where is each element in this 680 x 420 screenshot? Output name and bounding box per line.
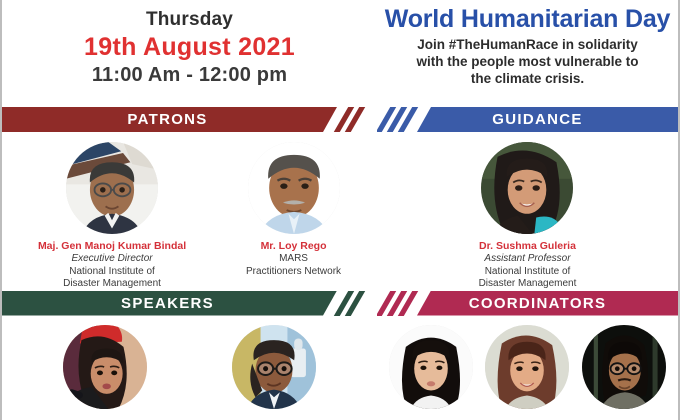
person-card: [63, 316, 147, 409]
event-tagline-line-2: with the people most vulnerable to: [416, 53, 638, 70]
banner-patrons-label: PATRONS: [127, 111, 207, 128]
patrons-group: Maj. Gen Manoj Kumar Bindal Executive Di…: [2, 132, 377, 291]
poster-header: Thursday 19th August 2021 11:00 Am - 12:…: [2, 0, 678, 107]
section-banner-speakers-coordinators: SPEAKERS COORDINATORS: [2, 291, 678, 316]
avatar: [248, 142, 340, 234]
person-role: MARS: [279, 253, 308, 266]
avatar: [63, 325, 147, 409]
people-row-bottom: [2, 316, 678, 409]
banner-patrons: PATRONS: [2, 107, 377, 132]
person-name: Mr. Loy Rego: [261, 240, 327, 253]
banner-guidance-label: GUIDANCE: [492, 111, 582, 128]
avatar: [582, 325, 666, 409]
section-banner-patrons-guidance: PATRONS GUIDANCE: [2, 107, 678, 132]
banner-coordinators-label: COORDINATORS: [469, 295, 607, 312]
event-tagline: Join #TheHumanRace in solidarity with th…: [416, 36, 638, 87]
person-role: Executive Director: [71, 253, 152, 266]
banner-guidance: GUIDANCE: [377, 107, 678, 132]
event-tagline-line-1: Join #TheHumanRace in solidarity: [416, 36, 638, 53]
banner-coordinators: COORDINATORS: [377, 291, 678, 316]
person-org-line-1: Practitioners Network: [246, 266, 341, 279]
person-org-line-2: Disaster Management: [479, 278, 577, 291]
person-card: Mr. Loy Rego MARS Practitioners Network: [246, 132, 341, 278]
person-org-line-1: National Institute of: [485, 266, 571, 279]
page-title: World Humanitarian Day: [385, 4, 670, 34]
person-card: [232, 316, 316, 409]
person-card: Dr. Sushma Guleria Assistant Professor N…: [479, 132, 577, 291]
event-day: Thursday: [146, 8, 233, 32]
people-row-top: Maj. Gen Manoj Kumar Bindal Executive Di…: [2, 132, 678, 291]
event-date: 19th August 2021: [84, 32, 295, 62]
person-card: [582, 316, 666, 409]
person-role: Assistant Professor: [484, 253, 570, 266]
event-tagline-line-3: the climate crisis.: [416, 70, 638, 87]
person-card: [389, 316, 473, 409]
event-poster: Thursday 19th August 2021 11:00 Am - 12:…: [0, 0, 680, 420]
avatar: [389, 325, 473, 409]
person-org-line-1: National Institute of: [69, 266, 155, 279]
avatar: [232, 325, 316, 409]
event-datetime-block: Thursday 19th August 2021 11:00 Am - 12:…: [2, 0, 377, 107]
person-org-line-2: Disaster Management: [63, 278, 161, 291]
person-name: Dr. Sushma Guleria: [479, 240, 576, 253]
person-name: Maj. Gen Manoj Kumar Bindal: [38, 240, 186, 253]
avatar: [481, 142, 573, 234]
event-time: 11:00 Am - 12:00 pm: [92, 62, 287, 88]
avatar: [485, 325, 569, 409]
person-card: Maj. Gen Manoj Kumar Bindal Executive Di…: [38, 132, 186, 291]
avatar: [66, 142, 158, 234]
speakers-group: [2, 316, 377, 409]
banner-speakers-label: SPEAKERS: [121, 295, 214, 312]
banner-speakers: SPEAKERS: [2, 291, 377, 316]
person-card: [485, 316, 569, 409]
guidance-group: Dr. Sushma Guleria Assistant Professor N…: [377, 132, 678, 291]
event-title-block: World Humanitarian Day Join #TheHumanRac…: [377, 0, 678, 107]
coordinators-group: [377, 316, 678, 409]
